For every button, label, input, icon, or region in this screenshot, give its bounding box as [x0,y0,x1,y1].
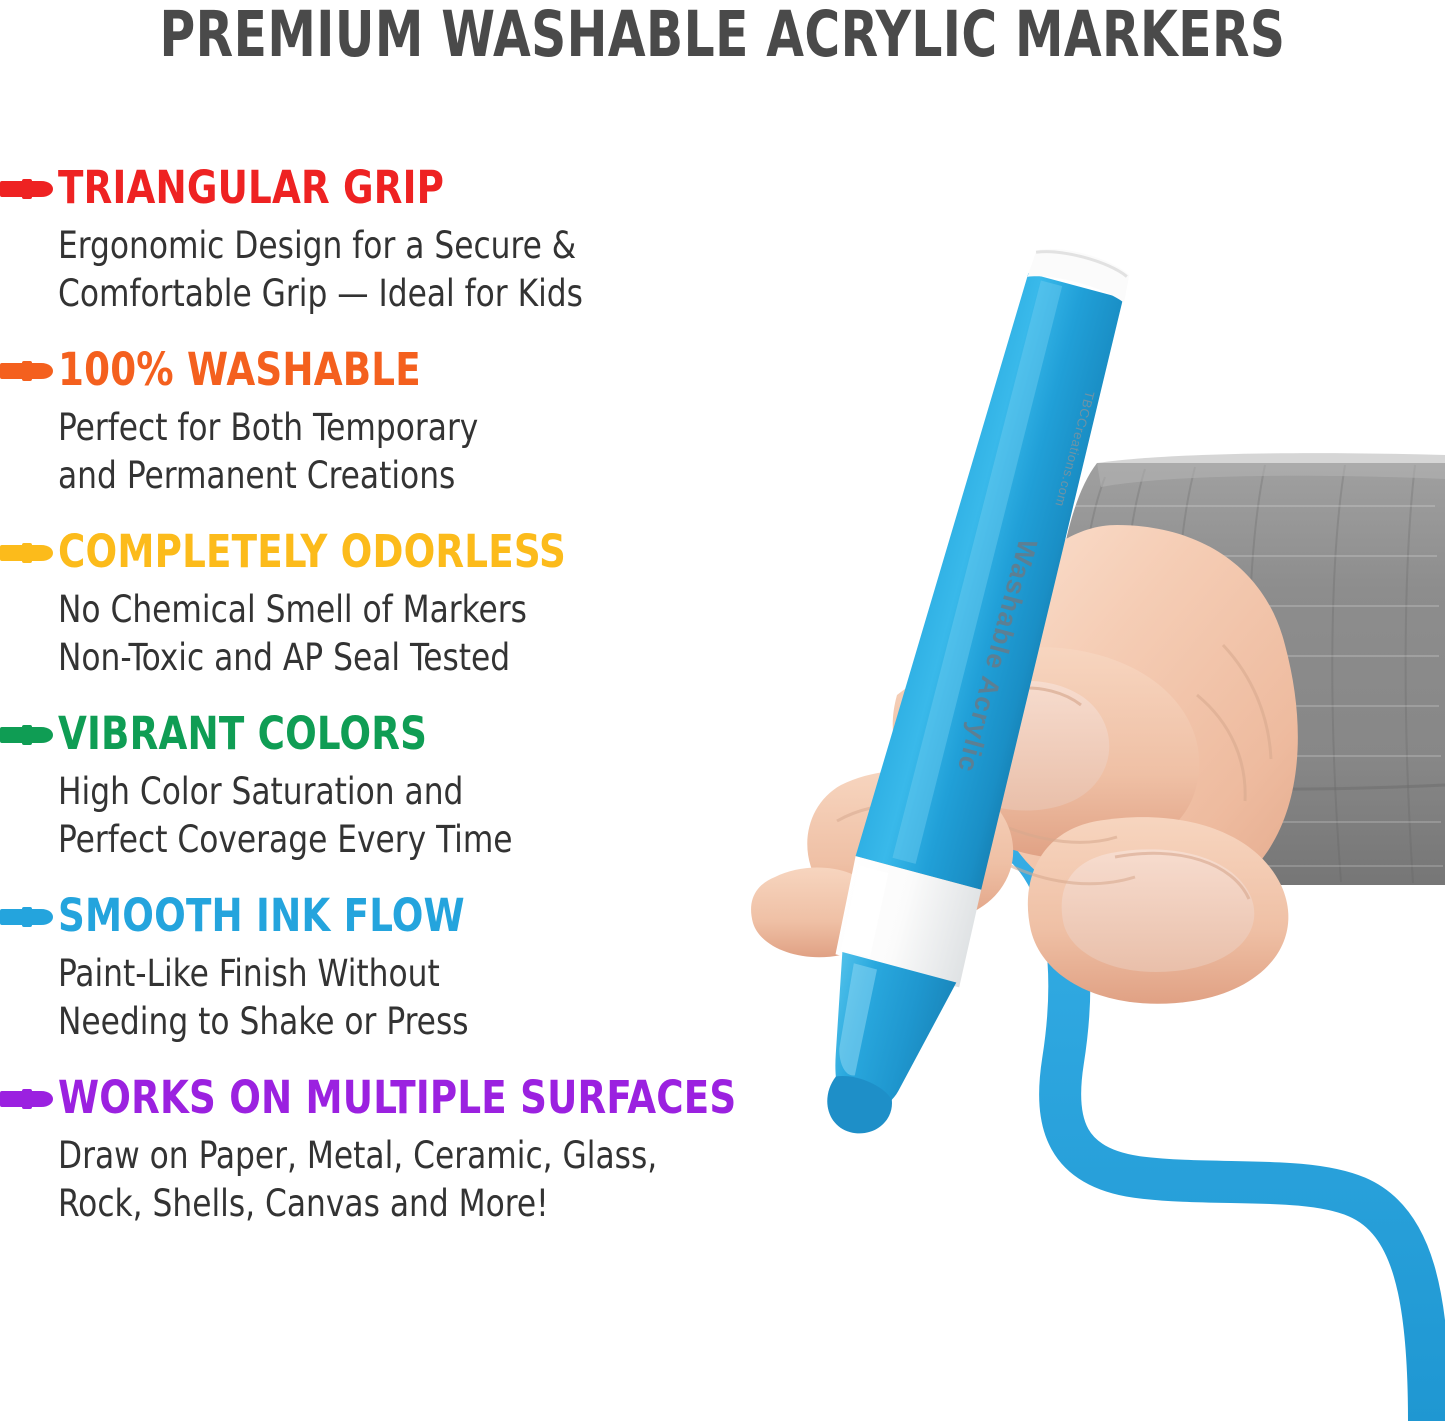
feature-body: No Chemical Smell of Markers Non-Toxic a… [58,586,831,682]
marker-bullet-icon [0,1086,54,1112]
infographic-page: PREMIUM WASHABLE ACRYLIC MARKERS [0,0,1445,1421]
feature-body: Perfect for Both Temporary and Permanent… [58,404,831,500]
feature-heading: TRIANGULAR GRIP [58,162,814,214]
feature-heading: WORKS ON MULTIPLE SURFACES [58,1072,814,1124]
feature-body-line: Rock, Shells, Canvas and More! [58,1180,831,1228]
feature-item: 100% WASHABLE Perfect for Both Temporary… [0,344,880,500]
feature-item: WORKS ON MULTIPLE SURFACES Draw on Paper… [0,1072,880,1228]
feature-body-line: High Color Saturation and [58,768,831,816]
feature-item: SMOOTH INK FLOW Paint-Like Finish Withou… [0,890,880,1046]
page-title: PREMIUM WASHABLE ACRYLIC MARKERS [101,2,1344,68]
feature-body-line: Paint-Like Finish Without [58,950,831,998]
feature-body-line: Draw on Paper, Metal, Ceramic, Glass, [58,1132,831,1180]
feature-item: VIBRANT COLORS High Color Saturation and… [0,708,880,864]
feature-item: TRIANGULAR GRIP Ergonomic Design for a S… [0,162,880,318]
feature-body-line: No Chemical Smell of Markers [58,586,831,634]
feature-body-line: Perfect Coverage Every Time [58,816,831,864]
feature-body-line: Comfortable Grip — Ideal for Kids [58,270,831,318]
feature-heading: SMOOTH INK FLOW [58,890,814,942]
feature-heading: COMPLETELY ODORLESS [58,526,814,578]
feature-body-line: Ergonomic Design for a Secure & [58,222,831,270]
feature-body: Draw on Paper, Metal, Ceramic, Glass, Ro… [58,1132,831,1228]
feature-body-line: Non-Toxic and AP Seal Tested [58,634,831,682]
feature-heading: 100% WASHABLE [58,344,814,396]
feature-item: COMPLETELY ODORLESS No Chemical Smell of… [0,526,880,682]
feature-heading: VIBRANT COLORS [58,708,814,760]
feature-body: High Color Saturation and Perfect Covera… [58,768,831,864]
marker-bullet-icon [0,176,54,202]
feature-body-line: Needing to Shake or Press [58,998,831,1046]
feature-body-line: Perfect for Both Temporary [58,404,831,452]
marker-bullet-icon [0,722,54,748]
feature-body-line: and Permanent Creations [58,452,831,500]
marker-bullet-icon [0,904,54,930]
feature-body: Paint-Like Finish Without Needing to Sha… [58,950,831,1046]
feature-list: TRIANGULAR GRIP Ergonomic Design for a S… [0,162,880,1228]
feature-body: Ergonomic Design for a Secure & Comforta… [58,222,831,318]
marker-bullet-icon [0,540,54,566]
marker-bullet-icon [0,358,54,384]
